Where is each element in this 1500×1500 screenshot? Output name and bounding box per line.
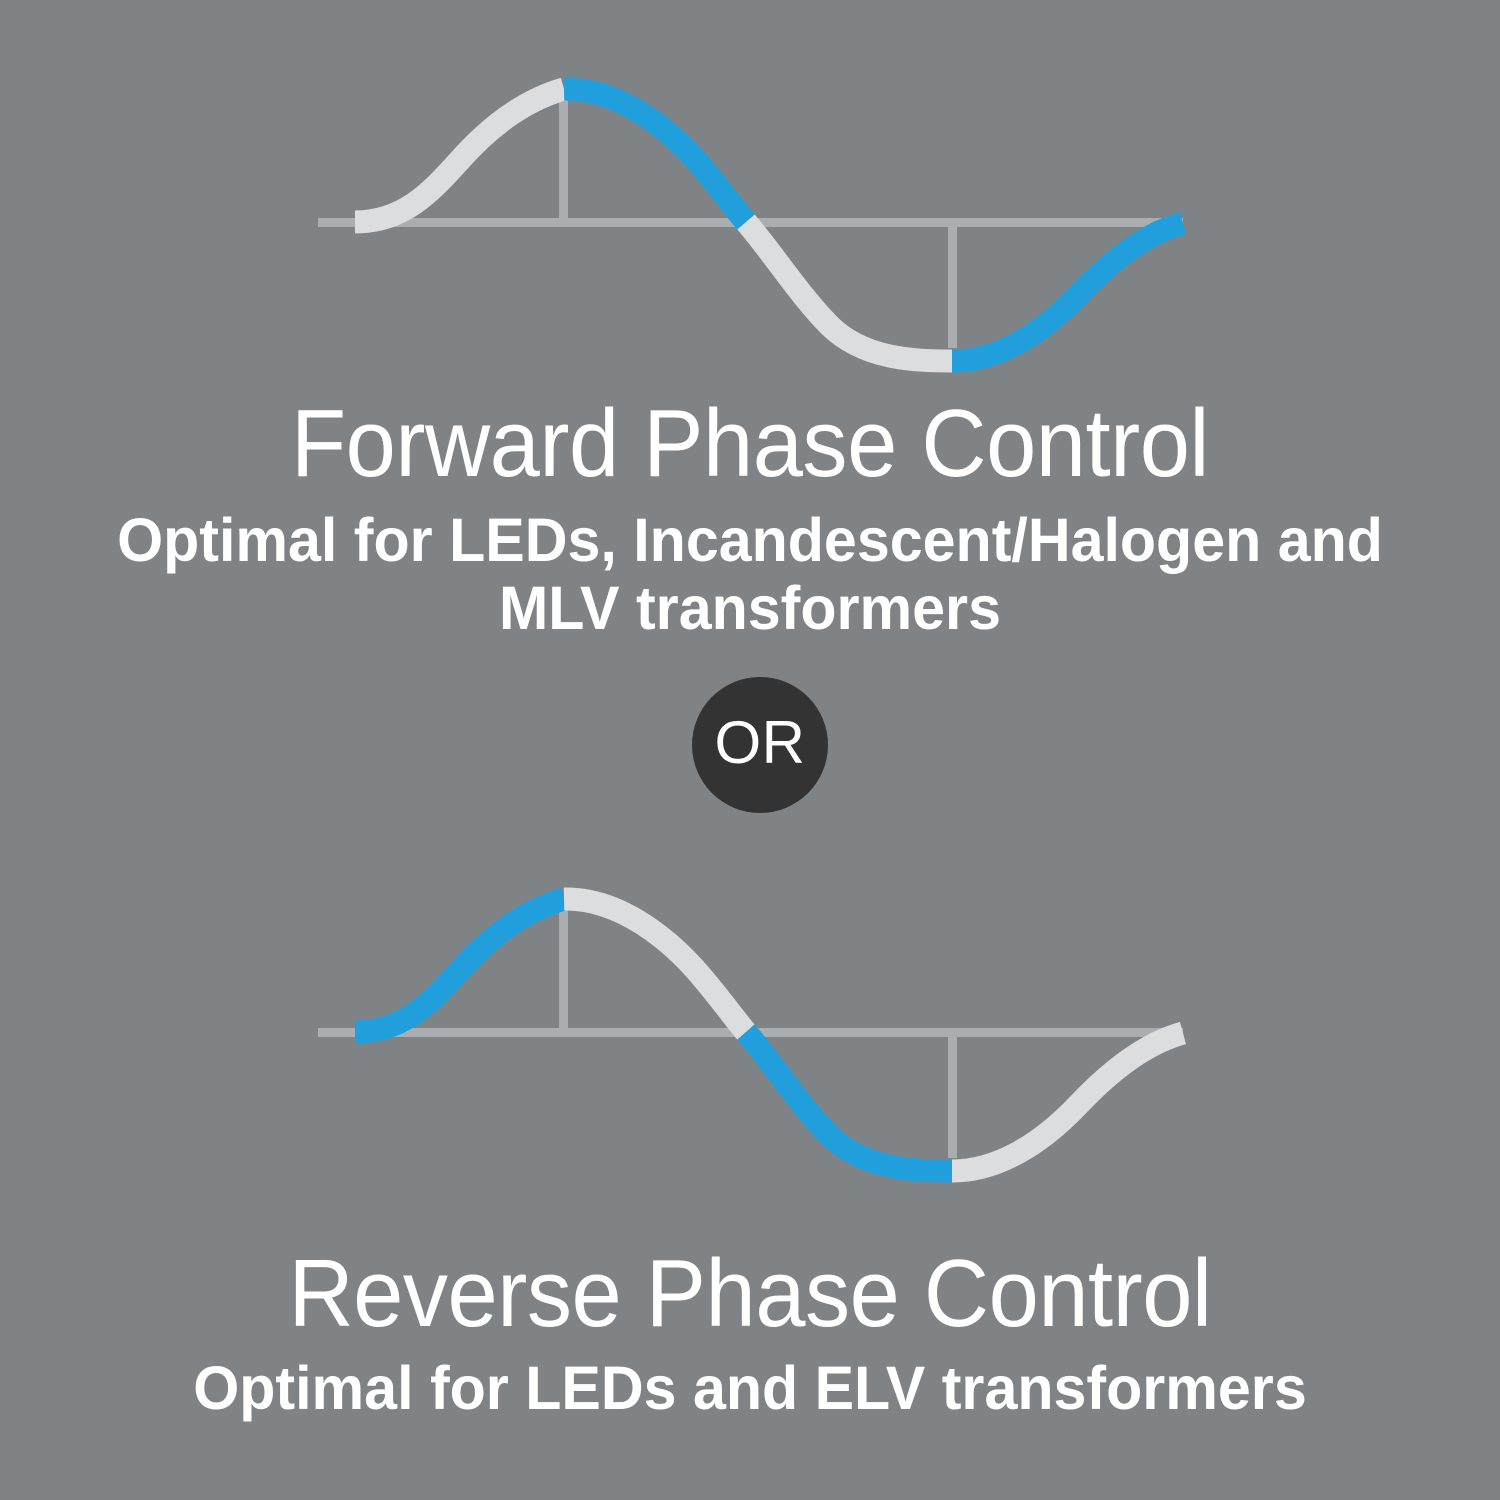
reverse-phase-waveform-figure <box>0 868 1500 1198</box>
wave-segment-inactive-q2 <box>564 899 746 1032</box>
wave-segment-inactive-q3 <box>746 222 952 361</box>
phase-tick-90-icon <box>559 90 568 222</box>
forward-phase-subhead-line-1: Optimal for LEDs, Incandescent/Halogen a… <box>23 506 1478 574</box>
phase-tick-270-icon <box>948 1033 957 1158</box>
wave-segment-active-q3 <box>746 1032 952 1171</box>
forward-phase-caption: Forward Phase Control Optimal for LEDs, … <box>0 396 1500 643</box>
wave-segment-inactive-q4 <box>952 1033 1183 1171</box>
or-badge: OR <box>692 677 828 813</box>
forward-phase-waveform-svg <box>0 60 1500 390</box>
reverse-phase-waveform-svg <box>0 868 1500 1198</box>
wave-segment-active-q2 <box>564 89 746 222</box>
wave-segment-active-q1 <box>355 899 564 1032</box>
forward-phase-waveform-figure <box>0 60 1500 390</box>
reverse-phase-subhead-line-1: Optimal for LEDs and ELV transformers <box>23 1354 1478 1422</box>
phase-tick-270-icon <box>948 223 957 348</box>
phase-tick-90-icon <box>559 900 568 1032</box>
forward-phase-subhead-line-2: MLV transformers <box>23 574 1478 642</box>
reverse-phase-subhead: Optimal for LEDs and ELV transformers <box>23 1354 1478 1422</box>
reverse-phase-headline: Reverse Phase Control <box>45 1246 1455 1342</box>
forward-phase-subhead: Optimal for LEDs, Incandescent/Halogen a… <box>23 506 1478 643</box>
reverse-phase-caption: Reverse Phase Control Optimal for LEDs a… <box>0 1246 1500 1422</box>
wave-segment-active-q4 <box>952 223 1183 361</box>
or-badge-label: OR <box>715 713 806 777</box>
infographic-canvas: Forward Phase Control Optimal for LEDs, … <box>0 0 1500 1500</box>
wave-segment-inactive-q1 <box>355 89 564 222</box>
forward-phase-headline: Forward Phase Control <box>45 396 1455 492</box>
